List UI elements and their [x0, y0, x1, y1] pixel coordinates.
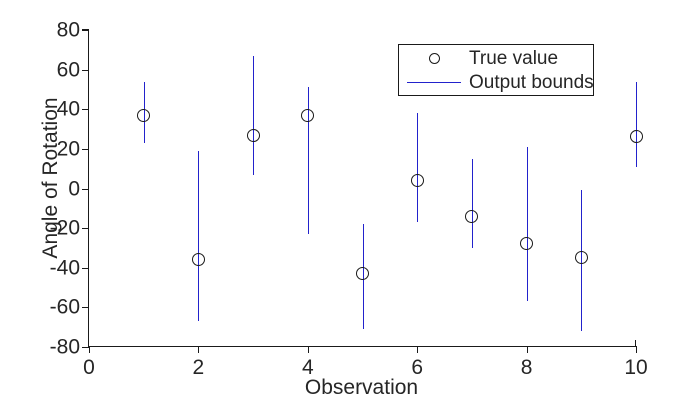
true-value-marker — [630, 130, 643, 143]
legend-label-true-value: True value — [469, 49, 558, 68]
true-value-marker — [301, 109, 314, 122]
x-tick — [636, 346, 637, 353]
legend-label-output-bounds: Output bounds — [469, 73, 594, 92]
output-bound-line — [253, 56, 254, 175]
x-tick-label: 10 — [624, 357, 647, 378]
legend-circle-marker-icon — [399, 46, 469, 71]
y-tick — [82, 347, 89, 348]
true-value-marker — [137, 109, 150, 122]
true-value-marker — [247, 129, 260, 142]
x-tick-label: 6 — [411, 357, 423, 378]
y-tick — [82, 149, 89, 150]
x-tick — [198, 346, 199, 353]
true-value-marker — [356, 267, 369, 280]
y-tick-label: -40 — [50, 257, 80, 278]
x-tick-label: 0 — [83, 357, 95, 378]
chart-legend: True value Output bounds — [398, 44, 594, 96]
x-tick — [308, 346, 309, 353]
y-tick — [82, 189, 89, 190]
legend-line-sample-icon — [399, 70, 469, 95]
output-bound-line — [417, 113, 418, 222]
legend-entry-output-bounds: Output bounds — [399, 70, 593, 95]
y-tick-label: -20 — [50, 218, 80, 239]
y-tick-label: -60 — [50, 297, 80, 318]
true-value-marker — [520, 237, 533, 250]
x-tick — [417, 346, 418, 353]
true-value-marker — [192, 253, 205, 266]
y-tick-label: 0 — [68, 178, 80, 199]
y-tick-label: 20 — [57, 138, 80, 159]
x-tick-label: 2 — [193, 357, 205, 378]
x-tick — [89, 346, 90, 353]
y-tick — [82, 228, 89, 229]
true-value-marker — [575, 251, 588, 264]
legend-entry-true-value: True value — [399, 46, 593, 71]
output-bound-line — [472, 159, 473, 248]
output-bound-line — [636, 82, 637, 167]
x-tick-label: 4 — [302, 357, 314, 378]
x-axis-label: Observation — [88, 376, 635, 400]
x-tick-label: 8 — [521, 357, 533, 378]
y-tick-label: 60 — [57, 59, 80, 80]
y-tick-label: 80 — [57, 20, 80, 41]
true-value-marker — [411, 174, 424, 187]
y-tick-label: -80 — [50, 337, 80, 358]
true-value-marker — [465, 210, 478, 223]
y-tick-label: 40 — [57, 99, 80, 120]
y-tick — [82, 70, 89, 71]
x-tick — [527, 346, 528, 353]
y-tick — [82, 307, 89, 308]
chart-figure: Angle of Rotation -80-60-40-20020406080 … — [0, 0, 677, 408]
output-bound-line — [198, 151, 199, 321]
y-tick — [82, 30, 89, 31]
y-tick — [82, 268, 89, 269]
y-tick — [82, 109, 89, 110]
output-bound-line — [527, 147, 528, 302]
